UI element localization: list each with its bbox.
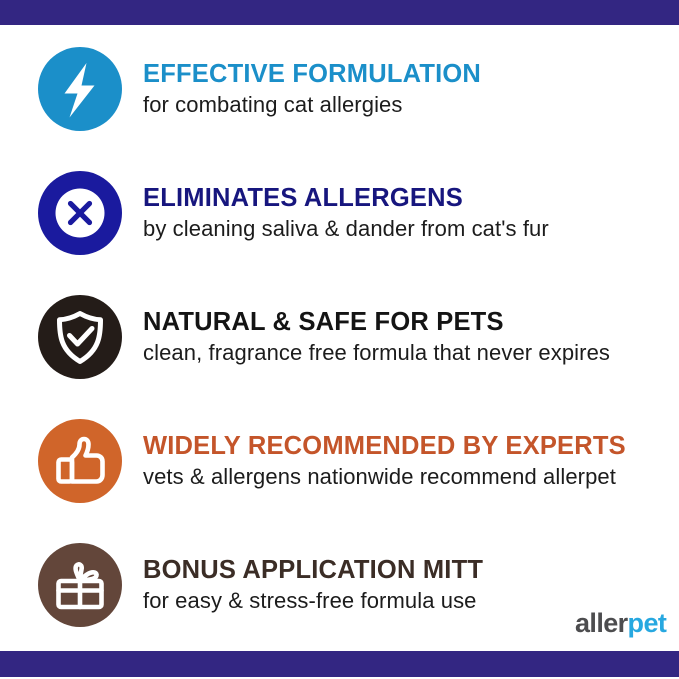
feature-text: NATURAL & SAFE FOR PETS clean, fragrance… (143, 309, 610, 365)
feature-title: NATURAL & SAFE FOR PETS (143, 309, 610, 337)
gift-box-icon (38, 543, 122, 627)
feature-title: EFFECTIVE FORMULATION (143, 61, 481, 89)
feature-subtitle: for easy & stress-free formula use (143, 588, 483, 614)
allerpet-logo: allerpet (575, 610, 666, 637)
feature-text: WIDELY RECOMMENDED BY EXPERTS vets & all… (143, 433, 626, 489)
thumbs-up-icon (38, 419, 122, 503)
logo-text-aller: aller (575, 608, 628, 638)
feature-text: EFFECTIVE FORMULATION for combating cat … (143, 61, 481, 117)
top-brand-bar (0, 0, 679, 25)
shield-check-icon (38, 295, 122, 379)
feature-row: WIDELY RECOMMENDED BY EXPERTS vets & all… (0, 399, 679, 523)
logo-text-pet: pet (628, 608, 667, 638)
product-benefits-infographic: EFFECTIVE FORMULATION for combating cat … (0, 0, 679, 679)
feature-text: ELIMINATES ALLERGENS by cleaning saliva … (143, 185, 549, 241)
feature-title: ELIMINATES ALLERGENS (143, 185, 549, 213)
feature-title: BONUS APPLICATION MITT (143, 557, 483, 585)
feature-subtitle: by cleaning saliva & dander from cat's f… (143, 216, 549, 242)
feature-row: EFFECTIVE FORMULATION for combating cat … (0, 27, 679, 151)
feature-row: ELIMINATES ALLERGENS by cleaning saliva … (0, 151, 679, 275)
feature-subtitle: for combating cat allergies (143, 92, 481, 118)
feature-row: NATURAL & SAFE FOR PETS clean, fragrance… (0, 275, 679, 399)
x-cross-circle-icon (38, 171, 122, 255)
bottom-brand-bar (0, 651, 679, 677)
feature-list: EFFECTIVE FORMULATION for combating cat … (0, 25, 679, 651)
feature-text: BONUS APPLICATION MITT for easy & stress… (143, 557, 483, 613)
lightning-bolt-icon (38, 47, 122, 131)
feature-subtitle: clean, fragrance free formula that never… (143, 340, 610, 366)
feature-title: WIDELY RECOMMENDED BY EXPERTS (143, 433, 626, 461)
feature-subtitle: vets & allergens nationwide recommend al… (143, 464, 626, 490)
